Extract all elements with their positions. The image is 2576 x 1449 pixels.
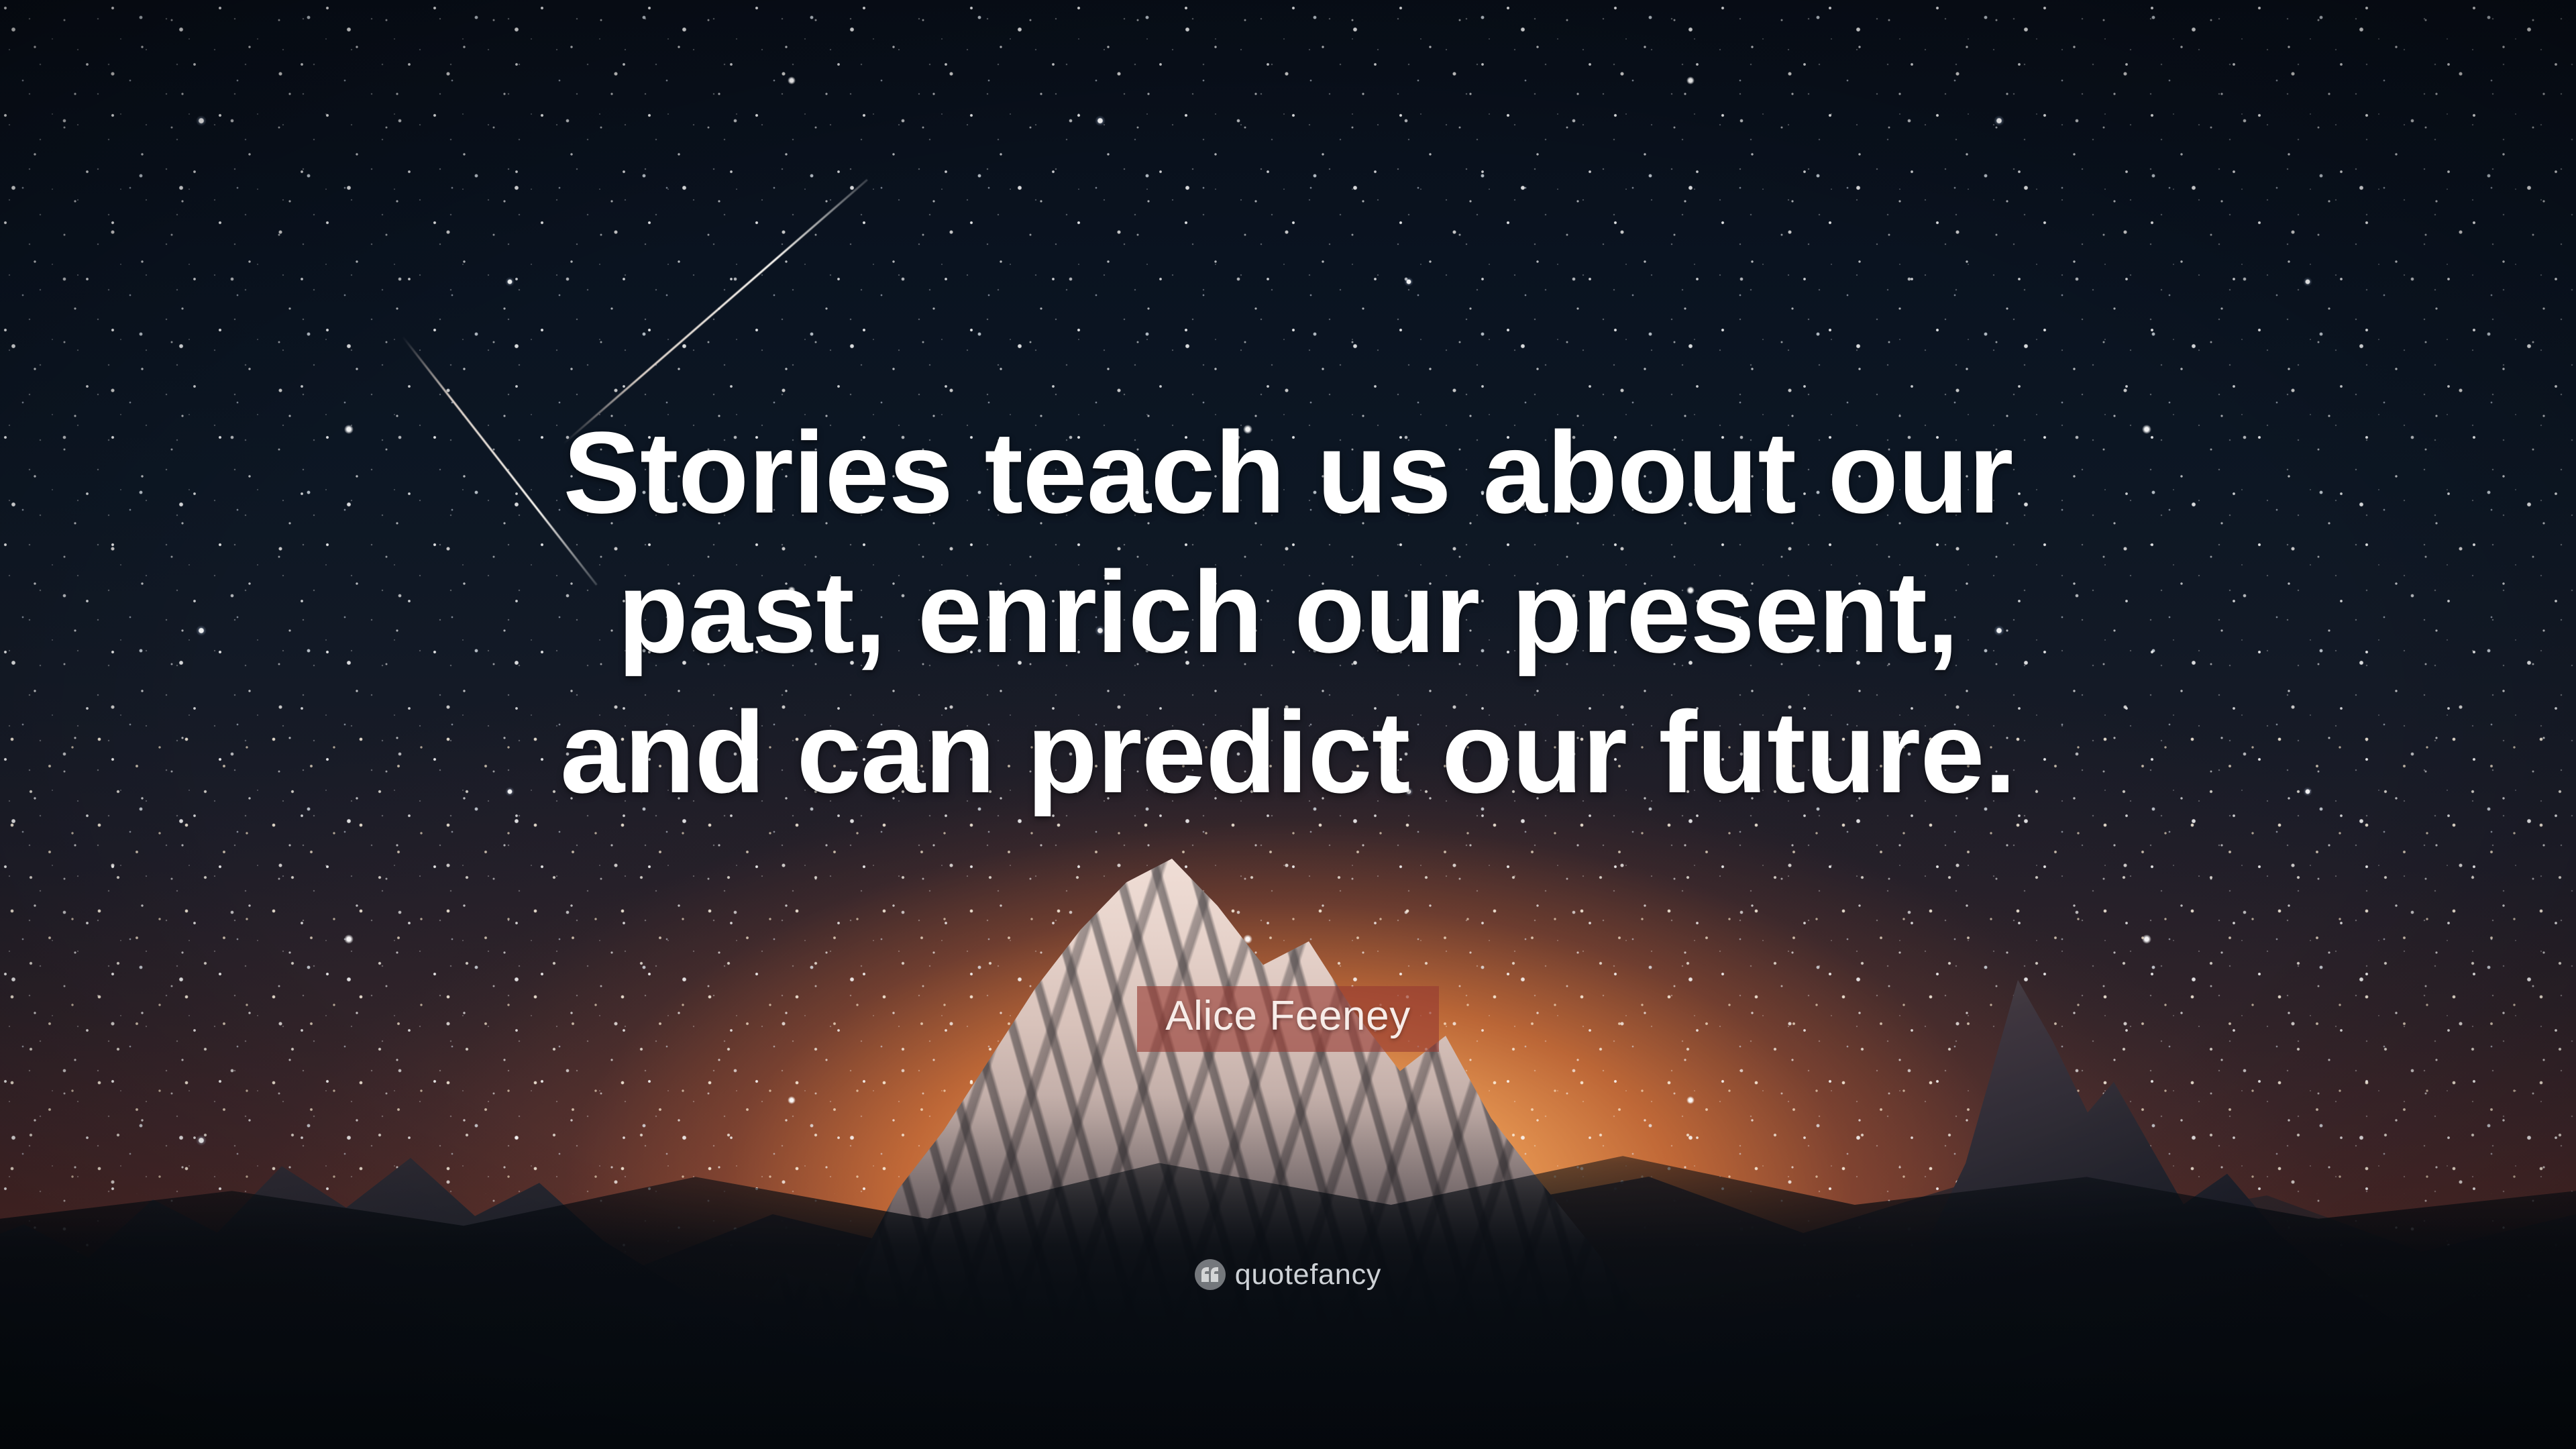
quote-text-block: Stories teach us about our past, enrich …	[0, 402, 2576, 822]
attribution-container: Alice Feeney	[0, 986, 2576, 1052]
quote-line-3: and can predict our future.	[174, 682, 2402, 822]
wallpaper-canvas: Stories teach us about our past, enrich …	[0, 0, 2576, 1449]
quote-mark-icon	[1195, 1259, 1226, 1290]
quotefancy-wordmark: quotefancy	[1235, 1260, 1381, 1289]
quote-author: Alice Feeney	[1137, 986, 1439, 1052]
quotefancy-logo[interactable]: quotefancy	[0, 1259, 2576, 1290]
quote-line-2: past, enrich our present,	[174, 542, 2402, 682]
quote-line-1: Stories teach us about our	[174, 402, 2402, 542]
